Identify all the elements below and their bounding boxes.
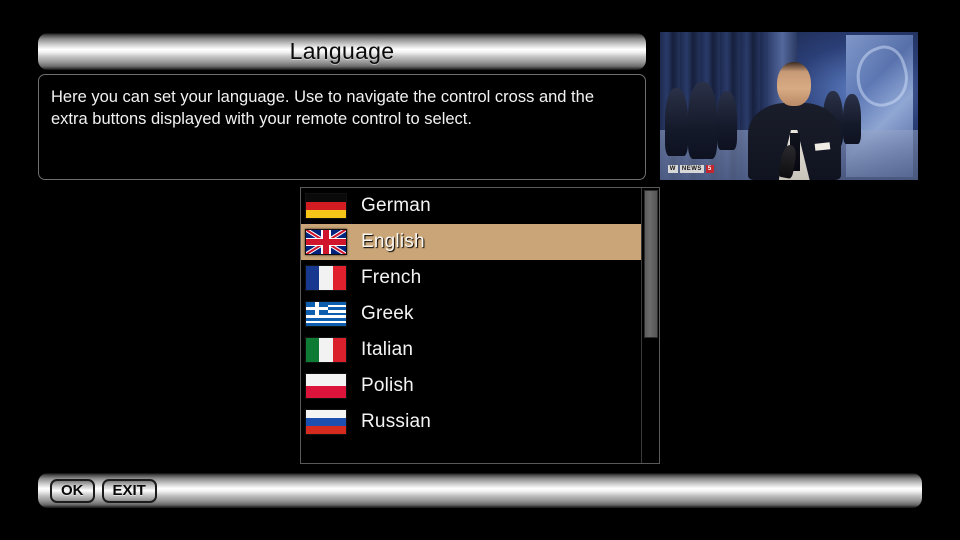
flag-poland-icon bbox=[305, 373, 347, 399]
channel-logo-part: NEWS bbox=[680, 165, 704, 173]
list-item-label: Greek bbox=[361, 303, 414, 325]
description-panel: Here you can set your language. Use to n… bbox=[38, 74, 646, 180]
preview-crowd-figure bbox=[717, 91, 738, 150]
list-item[interactable]: French bbox=[301, 260, 642, 296]
channel-logo-part: 5 bbox=[706, 165, 714, 173]
exit-button[interactable]: EXIT bbox=[102, 479, 157, 503]
list-scrollbar[interactable] bbox=[641, 188, 659, 463]
ok-button[interactable]: OK bbox=[50, 479, 95, 503]
list-item[interactable]: German bbox=[301, 188, 642, 224]
preview-crowd-figure bbox=[843, 94, 861, 144]
channel-logo-part: W bbox=[668, 165, 678, 173]
flag-france-icon bbox=[305, 265, 347, 291]
list-item-label: Italian bbox=[361, 339, 413, 361]
title-bar: Language bbox=[38, 33, 646, 70]
list-item[interactable]: Russian bbox=[301, 404, 642, 440]
preview-crowd-figure bbox=[665, 88, 688, 156]
preview-reporter-head bbox=[777, 62, 811, 106]
language-list-panel: German English French bbox=[300, 187, 660, 464]
list-item-label: French bbox=[361, 267, 421, 289]
language-list: German English French bbox=[301, 188, 642, 440]
flag-russia-icon bbox=[305, 409, 347, 435]
flag-germany-icon bbox=[305, 193, 347, 219]
scrollbar-thumb[interactable] bbox=[644, 190, 658, 338]
list-item[interactable]: Polish bbox=[301, 368, 642, 404]
softkey-bar: OK EXIT bbox=[38, 473, 922, 508]
list-item[interactable]: Italian bbox=[301, 332, 642, 368]
description-text: Here you can set your language. Use to n… bbox=[51, 87, 633, 131]
list-item[interactable]: Greek bbox=[301, 296, 642, 332]
flag-uk-icon bbox=[305, 229, 347, 255]
list-item-label: Russian bbox=[361, 411, 431, 433]
live-tv-preview[interactable]: W NEWS 5 bbox=[660, 32, 918, 180]
flag-italy-icon bbox=[305, 337, 347, 363]
channel-logo: W NEWS 5 bbox=[668, 161, 714, 177]
list-item[interactable]: English bbox=[301, 224, 642, 260]
list-item-label: English bbox=[361, 231, 425, 253]
osd-screen: Language Here you can set your language.… bbox=[0, 0, 960, 540]
page-title: Language bbox=[290, 38, 395, 65]
list-item-label: Polish bbox=[361, 375, 414, 397]
flag-greece-icon bbox=[305, 301, 347, 327]
preview-crowd-figure bbox=[688, 82, 716, 159]
list-item-label: German bbox=[361, 195, 431, 217]
